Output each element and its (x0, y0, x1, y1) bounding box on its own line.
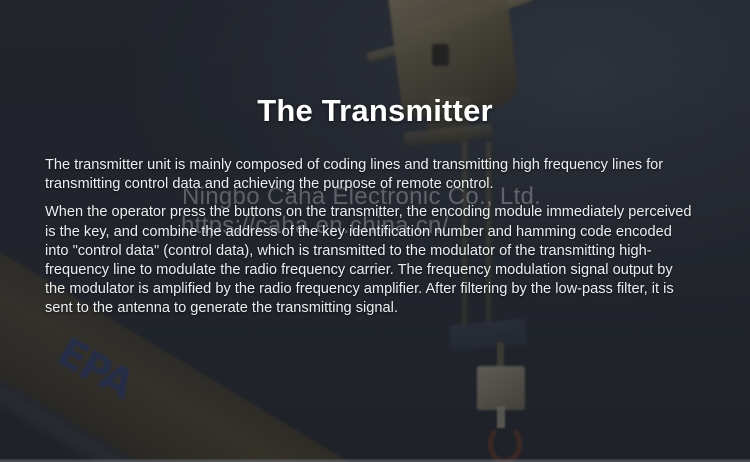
body-paragraph-2: When the operator press the buttons on t… (45, 203, 693, 318)
slide-title: The Transmitter (0, 93, 750, 129)
slide-content: The Transmitter The transmitter unit is … (0, 0, 750, 462)
presentation-slide: EPA Ningbo Caha Electronic Co., Ltd. htt… (0, 0, 750, 462)
slide-body: The transmitter unit is mainly composed … (45, 156, 693, 319)
body-paragraph-1: The transmitter unit is mainly composed … (45, 156, 693, 194)
